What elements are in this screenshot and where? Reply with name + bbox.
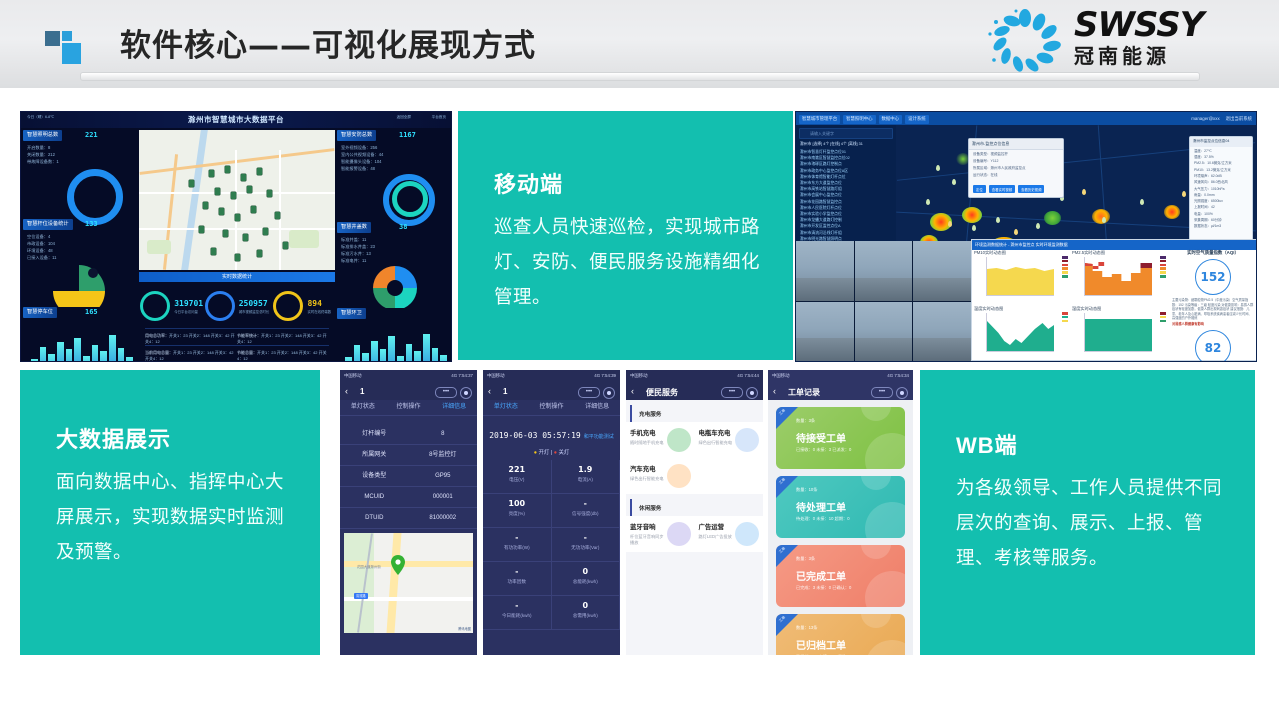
nav-item-platform[interactable]: 智慧城市管理平台 <box>799 115 840 124</box>
bar-chart-parking <box>23 321 135 362</box>
panel-label: 智慧停车位 <box>23 307 57 318</box>
detail-row: MCUID000001 <box>340 487 477 508</box>
close-circle-icon[interactable] <box>746 387 758 399</box>
dashboard-right-column: 智慧安防总数 1167 室外视频设备：256 室内公共视频设备：44 智能摄像头… <box>337 130 449 359</box>
decor-squares-icon <box>45 31 85 69</box>
bar-chart-sanitation <box>337 322 449 362</box>
dashboard-weather: 今日（晴）6-8℃ <box>27 115 54 120</box>
popup-live-video-button[interactable]: 查看实时视频 <box>989 185 1015 193</box>
more-icon[interactable]: ••• <box>871 387 893 398</box>
service-name: 手机充电 <box>630 428 664 437</box>
slide-header: 软件核心——可视化展现方式 <box>0 0 1279 88</box>
phone-title: 工单记录 <box>788 387 820 398</box>
refresh-link[interactable]: 和平功能测试 <box>584 434 614 440</box>
dashboard-center-column: 实时数据统计 319701 今日平台访问量 250957 城市视频监控总时长 8… <box>139 130 335 359</box>
onoff-indicator: ● 开灯 | ● 关灯 <box>483 448 620 456</box>
panel-header: 智慧安防总数 1167 <box>337 130 449 141</box>
card-subtitle: 数量：10条 <box>796 487 817 493</box>
back-icon[interactable]: ‹ <box>345 386 348 396</box>
metric-cell: 221电压(V) <box>483 460 552 494</box>
metric-label: 总需用(kwh) <box>552 613 620 619</box>
dashboard-topbar: 滁州市智慧城市大数据平台 今日（晴）6-8℃ 返回全屏 平台首页 <box>21 112 451 128</box>
popup-row: 运行状态：在线 <box>969 171 1063 178</box>
metric-value: - <box>483 567 551 576</box>
workorder-card[interactable]: 工单数量：3条已完成工单已完成：3 未接：0 已确认：0 <box>776 545 905 607</box>
tab-lamp-status[interactable]: 单灯状态 <box>340 400 386 415</box>
detail-value: 8号监控灯 <box>409 445 478 465</box>
more-icon[interactable]: ••• <box>435 387 457 398</box>
card-corner-ribbon <box>776 407 798 429</box>
phone-statusbar: 中国移动 4G 7:54:39 <box>483 370 620 383</box>
panel-label: 智慧杆位设备统计 <box>23 219 73 230</box>
detail-value: GP95 <box>409 466 478 486</box>
card-title: 已归档工单 <box>796 637 846 652</box>
map-location-pin-icon <box>391 555 405 575</box>
info-row: 数据状态：μl/1m3 <box>1190 222 1252 228</box>
info-panel-title: 滁州市监控点位信息04 <box>1190 137 1252 147</box>
tab-details[interactable]: 详细信息 <box>574 400 620 415</box>
card-title: 已完成工单 <box>796 568 846 583</box>
kpi-item: 894 实时在线终端数 <box>270 286 335 326</box>
phone-location-map[interactable]: 花园大道滁州街 清流路 腾讯地图 <box>344 533 473 633</box>
metric-value: 221 <box>483 465 551 474</box>
dashboard-fullscreen-button[interactable]: 返回全屏 <box>397 115 411 120</box>
card-subtitle: 数量：3条 <box>796 418 815 424</box>
bigdata-dashboard-screenshot: 滁州市智慧城市大数据平台 今日（晴）6-8℃ 返回全屏 平台首页 智慧照明总数 … <box>20 111 452 362</box>
metric-value: 1.9 <box>552 465 620 474</box>
tab-control[interactable]: 控制操作 <box>386 400 432 415</box>
workorder-card-list: 工单数量：3条待接受工单已接收：0 未接：3 已派发：0工单数量：10条待处理工… <box>768 407 913 656</box>
kpi-ring-icon <box>140 291 170 321</box>
panel-value: 221 <box>85 130 98 141</box>
panel-header: 智慧停车位 165 <box>23 307 135 318</box>
service-desc: 绿色出行智能充电 <box>699 440 733 446</box>
close-circle-icon[interactable] <box>603 387 615 399</box>
kpi-value: 250957 <box>239 299 270 309</box>
popup-title: 滁州市-监控点位信息 <box>969 139 1063 150</box>
tab-details[interactable]: 详细信息 <box>431 400 477 415</box>
detail-key: 所属网关 <box>340 445 409 465</box>
service-row: 蓝牙音响杆位蓝牙音响同步播放广告运营路灯LED广告投放 <box>626 516 763 552</box>
service-row: 汽车充电绿色出行智能充电 <box>626 458 763 494</box>
panel-value: 38 <box>399 222 407 233</box>
back-icon[interactable]: ‹ <box>631 386 634 396</box>
phone-statusbar: 中国移动 4G 7:54:34 <box>768 370 913 383</box>
kpi-value: 319701 <box>174 299 203 309</box>
workorder-card[interactable]: 工单数量：13条已归档工单已归档：13 未接：13 超期：0 <box>776 614 905 656</box>
service-desc: 随时随地手机充电 <box>630 440 664 446</box>
realtime-stats-bar: 实时数据统计 <box>139 272 335 282</box>
search-placeholder: 请输入关键字 <box>810 131 834 137</box>
metric-label: 今日能耗(kwh) <box>483 613 551 619</box>
popup-row: 所属区域：滁州市人民政府监控点 <box>969 164 1063 171</box>
card-corner-ribbon <box>776 614 798 636</box>
panel-header: 智慧照明总数 221 <box>23 130 135 141</box>
close-circle-icon[interactable] <box>896 387 908 399</box>
metric-label: 有功功率(W) <box>483 545 551 551</box>
gis-platform-screenshot: 智慧城市管理平台 智慧照明中心 数据中心 设计系统 manager@xxx 退出… <box>795 111 1257 362</box>
phone-title: 1 <box>360 387 364 396</box>
clock-label: 4G 7:54:37 <box>451 373 473 383</box>
service-name: 广告运营 <box>699 522 732 531</box>
metric-value: 0 <box>552 567 620 576</box>
donut-chart-security <box>337 172 449 222</box>
kpi-item: 319701 今日平台访问量 <box>139 286 204 326</box>
panel-detail-lines: 标准井盖：11 标准排水井盖：23 标准污水井：13 标准电井：11 <box>341 236 449 264</box>
bigdata-block-body: 面向数据中心、指挥中心大屏展示，实现数据实时监测及预警。 <box>56 464 296 569</box>
card-title: 待接受工单 <box>796 430 846 445</box>
phone-navbar: ‹ 1 ••• <box>340 383 477 400</box>
bigdata-block-title: 大数据展示 <box>56 422 296 454</box>
aqi-main-value: 152 <box>1195 259 1231 295</box>
timestamp-value: 2019-06-03 05:57:19 <box>489 431 581 440</box>
service-item <box>695 458 764 494</box>
lamp-on-label: 开灯 | <box>539 450 553 456</box>
phone-service-screenshot: 中国移动 4G 7:54:44 ‹ 便民服务 ••• 充电服务手机充电随时随地手… <box>626 370 763 655</box>
footer-row: 当前用电总量：开关1：23 开关2：148 开关3：42 开关4：12 节能总量… <box>145 345 329 361</box>
metric-label: 无功功率(Var) <box>552 545 620 551</box>
card-meta: 已接收：0 未接：3 已派发：0 <box>796 447 851 453</box>
web-text-block: WB端 为各级领导、工作人员提供不同层次的查询、展示、上报、管理、考核等服务。 <box>920 370 1255 655</box>
service-icon <box>667 428 691 452</box>
metric-cell: -今日能耗(kwh) <box>483 596 552 630</box>
phone-lamp-realtime-screenshot: 中国移动 4G 7:54:39 ‹ 1 ••• 单灯状态 控制操作 详细信息 2… <box>483 370 620 655</box>
environment-info-panel: 滁州市监控点位信息04 温度：27℃湿度：37.5%PM2.5：10.6微克/立… <box>1189 136 1253 253</box>
nav-item-data[interactable]: 数据中心 <box>879 115 903 124</box>
metric-cell: 1.9电流(A) <box>552 460 621 494</box>
service-icon <box>667 522 691 546</box>
pie-chart-poles <box>23 261 135 307</box>
kpi-ring-icon <box>205 291 235 321</box>
card-meta: 待处理：0 未接：10 超期：0 <box>796 516 850 522</box>
metric-value: - <box>483 533 551 542</box>
metric-cell: -有功功率(W) <box>483 528 552 562</box>
detail-value: 81000002 <box>409 508 478 528</box>
detail-key: MCUID <box>340 487 409 507</box>
donut-chart-lighting <box>23 165 135 219</box>
detail-row: 设备类型GP95 <box>340 466 477 487</box>
metric-value: - <box>552 499 620 508</box>
service-desc: 绿色出行智能充电 <box>630 476 664 482</box>
card-corner-ribbon <box>776 476 798 498</box>
panel-label: 智慧环卫 <box>337 308 366 319</box>
aqi-description: 主要污染物：细颗粒物PM2.5（中度污染）空气质量指数：152 污染等级：三级 … <box>1172 298 1254 321</box>
web-block-title: WB端 <box>956 428 1231 460</box>
popup-row: 设备类型：视频监控杆 <box>969 150 1063 157</box>
card-meta: 已归档：13 未接：13 超期：0 <box>796 654 852 656</box>
carrier-label: 中国移动 <box>344 373 362 383</box>
service-row: 手机充电随时随地手机充电电瓶车充电绿色出行智能充电 <box>626 422 763 458</box>
workorder-card[interactable]: 工单数量：3条待接受工单已接收：0 未接：3 已派发：0 <box>776 407 905 469</box>
service-item[interactable]: 汽车充电绿色出行智能充电 <box>626 458 695 494</box>
phone-navbar: ‹ 1 ••• <box>483 383 620 400</box>
pie-chart-manholes <box>337 264 449 308</box>
camera-tile[interactable] <box>855 241 913 301</box>
footer-key: 用电总功率： <box>145 333 169 338</box>
detail-value: 8 <box>409 424 478 444</box>
tree-search-input[interactable]: 请输入关键字 <box>799 128 893 139</box>
aqi-warning: 对易感人群健康有影响 <box>1172 322 1254 327</box>
kpi-label: 城市视频监控总时长 <box>239 309 270 314</box>
popup-history-video-button[interactable]: 查看历史视频 <box>1018 185 1044 193</box>
service-name: 蓝牙音响 <box>630 522 667 531</box>
aqi-charts-grid: PM10实时动态图 PM2.5实时动态图 <box>974 250 1169 358</box>
metric-grid: 221电压(V)1.9电流(A)100亮度(%)-信号强度(db)-有功功率(W… <box>483 460 620 630</box>
map-street-label: 花园大道滁州街 <box>357 564 381 569</box>
service-icon <box>667 464 691 488</box>
panel-detail-lines: 开启数量：8 关闭数量：212 带故障设备数：1 <box>27 144 135 165</box>
metric-label: 电压(V) <box>483 477 551 483</box>
metric-cell: -信号强度(db) <box>552 494 621 528</box>
bigdata-text-block: 大数据展示 面向数据中心、指挥中心大屏展示，实现数据实时监测及预警。 <box>20 370 320 655</box>
phone-navbar: ‹ 便民服务 ••• <box>626 383 763 400</box>
close-circle-icon[interactable] <box>460 387 472 399</box>
metric-label: 功率因数 <box>483 579 551 585</box>
panel-detail-lines: 空位设备：4 市政设备：104 环境设备：48 已接入设备：11 <box>27 233 135 261</box>
kpi-row: 319701 今日平台访问量 250957 城市视频监控总时长 894 实时在线… <box>139 286 335 326</box>
service-desc: 路灯LED广告投放 <box>699 534 732 540</box>
panel-label: 智慧安防总数 <box>337 130 376 141</box>
company-logo: SWSSY 冠南能源 <box>982 6 1227 76</box>
service-section-title: 休闲服务 <box>630 499 763 516</box>
service-item[interactable]: 蓝牙音响杆位蓝牙音响同步播放 <box>626 516 695 552</box>
logo-text-en: SWSSY <box>1074 8 1203 42</box>
workorder-card[interactable]: 工单数量：10条待处理工单待处理：0 未接：10 超期：0 <box>776 476 905 538</box>
metric-label: 电流(A) <box>552 477 620 483</box>
clock-label: 4G 7:54:39 <box>594 373 616 383</box>
service-item[interactable]: 手机充电随时随地手机充电 <box>626 422 695 458</box>
camera-tile[interactable] <box>913 302 971 362</box>
dashboard-title: 滁州市智慧城市大数据平台 <box>21 114 451 125</box>
phone-workorder-screenshot: 中国移动 4G 7:54:34 ‹ 工单记录 ••• 工单数量：3条待接受工单已… <box>768 370 913 655</box>
footer-row: 用电总功率：开关1：23 开关2：148 开关3：42 开关4：12 节能率统计… <box>145 328 329 344</box>
gis-navbar: 智慧城市管理平台 智慧照明中心 数据中心 设计系统 manager@xxx 退出… <box>796 112 1256 125</box>
detail-key: 设备类型 <box>340 466 409 486</box>
tab-lamp-status[interactable]: 单灯状态 <box>483 400 529 415</box>
map-attribution: 腾讯地图 <box>458 626 471 631</box>
footer-key: 节能总量： <box>237 350 257 355</box>
metric-label: 总能耗(kwh) <box>552 579 620 585</box>
aqi-index-title: 实时空气质量指数（AQI） <box>1172 250 1254 256</box>
carrier-label: 中国移动 <box>772 373 790 383</box>
city-map[interactable] <box>139 130 335 270</box>
card-subtitle: 数量：13条 <box>796 625 817 631</box>
detail-value: 000001 <box>409 487 478 507</box>
logout-button[interactable]: 退出当前系统 <box>1226 116 1252 122</box>
map-point-popup[interactable]: 滁州市-监控点位信息 设备类型：视频监控杆 设备编号：Y112 所属区域：滁州市… <box>968 138 1064 198</box>
camera-tile[interactable] <box>796 241 854 301</box>
camera-tile[interactable] <box>913 241 971 301</box>
user-menu[interactable]: manager@xxx <box>1191 116 1219 122</box>
metric-value: 100 <box>483 499 551 508</box>
service-item[interactable]: 广告运营路灯LED广告投放 <box>695 516 764 552</box>
card-corner-ribbon <box>776 545 798 567</box>
chart-temperature: 温度实时动态图 <box>974 306 1068 358</box>
phone-tabs[interactable]: 单灯状态 控制操作 详细信息 <box>340 400 477 416</box>
service-sections: 充电服务手机充电随时随地手机充电电瓶车充电绿色出行智能充电汽车充电绿色出行智能充… <box>626 405 763 552</box>
tree-root-label: 滁州市 [选择] 4个 [在线] 4个 [离线] 31 <box>800 142 896 147</box>
metric-label: 亮度(%) <box>483 511 551 517</box>
detail-row: DTUID81000002 <box>340 508 477 529</box>
camera-tile[interactable] <box>855 302 913 362</box>
phone-tabs[interactable]: 单灯状态 控制操作 详细信息 <box>483 400 620 416</box>
mobile-text-block: 移动端 巡查人员快速巡检，实现城市路灯、安防、便民服务设施精细化管理。 <box>458 111 793 360</box>
water-drop-emblem-icon <box>982 8 1068 74</box>
dashboard-home-button[interactable]: 平台首页 <box>432 115 446 120</box>
card-meta: 已完成：3 未接：0 已确认：0 <box>796 585 851 591</box>
tab-control[interactable]: 控制操作 <box>529 400 575 415</box>
aqi-index-panel: 实时空气质量指数（AQI） 152 主要污染物：细颗粒物PM2.5（中度污染）空… <box>1172 250 1254 358</box>
page-title: 软件核心——可视化展现方式 <box>120 20 536 65</box>
realtime-timestamp-row: 2019-06-03 05:57:19和平功能测试 ● 开灯 | ● 关灯 <box>483 416 620 460</box>
metric-label: 信号强度(db) <box>552 511 620 517</box>
panel-header: 智慧杆位设备统计 133 <box>23 219 135 230</box>
map-road-badge: 清流路 <box>354 593 368 599</box>
phone-lamp-detail-screenshot: 中国移动 4G 7:54:37 ‹ 1 ••• 单灯状态 控制操作 详细信息 灯… <box>340 370 477 655</box>
panel-label: 智慧照明总数 <box>23 130 62 141</box>
detail-row: 所属网关8号监控灯 <box>340 445 477 466</box>
aqi-panel-title: 环境监测数据统计 - 滁州市监控点 实时环境监测数据 <box>972 240 1257 250</box>
kpi-value: 894 <box>307 299 331 309</box>
service-icon <box>735 428 759 452</box>
phone-navbar: ‹ 工单记录 ••• <box>768 383 913 400</box>
phone-title: 便民服务 <box>646 387 678 398</box>
metric-cell: -功率因数 <box>483 562 552 596</box>
phone-statusbar: 中国移动 4G 7:54:44 <box>626 370 763 383</box>
chart-humidity: 湿度实时动态图 <box>1072 306 1166 358</box>
detail-row: 灯杆编号8 <box>340 424 477 445</box>
dashboard-left-column: 智慧照明总数 221 开启数量：8 关闭数量：212 带故障设备数：1 智慧杆位… <box>23 130 135 359</box>
more-icon[interactable]: ••• <box>578 387 600 398</box>
carrier-label: 中国移动 <box>630 373 648 383</box>
web-block-body: 为各级领导、工作人员提供不同层次的查询、展示、上报、管理、考核等服务。 <box>956 470 1231 575</box>
panel-detail-lines: 室外视频设备：256 室内公共视频设备：44 智能摄像头设备：104 智能报警设… <box>341 144 449 172</box>
metric-value: 0 <box>552 601 620 610</box>
metric-cell: 0总需用(kwh) <box>552 596 621 630</box>
mobile-block-body: 巡查人员快速巡检，实现城市路灯、安防、便民服务设施精细化管理。 <box>494 209 769 314</box>
mobile-block-title: 移动端 <box>494 167 769 199</box>
metric-value: - <box>483 601 551 610</box>
camera-tile[interactable] <box>796 302 854 362</box>
slide: 软件核心——可视化展现方式 <box>0 0 1279 720</box>
footer-key: 当前用电总量： <box>145 350 173 355</box>
panel-header: 智慧环卫 <box>337 308 449 319</box>
panel-value: 133 <box>85 219 98 230</box>
footer-key: 节能率统计： <box>237 333 261 338</box>
camera-grid <box>796 241 971 361</box>
panel-value: 1167 <box>399 130 416 141</box>
chart-pm10: PM10实时动态图 <box>974 250 1068 302</box>
service-item[interactable]: 电瓶车充电绿色出行智能充电 <box>695 422 764 458</box>
back-icon[interactable]: ‹ <box>773 386 776 396</box>
kpi-ring-icon <box>273 291 303 321</box>
more-icon[interactable]: ••• <box>721 387 743 398</box>
phone-title: 1 <box>503 387 507 396</box>
aqi-secondary-value: 82 <box>1195 330 1231 362</box>
panel-label: 智慧井盖数 <box>337 222 371 233</box>
metric-cell: 0总能耗(kwh) <box>552 562 621 596</box>
back-icon[interactable]: ‹ <box>488 386 491 396</box>
popup-locate-button[interactable]: 定位 <box>973 185 986 193</box>
service-icon <box>735 522 759 546</box>
card-title: 待处理工单 <box>796 499 846 514</box>
nav-item-lighting[interactable]: 智慧照明中心 <box>843 115 875 124</box>
kpi-label: 今日平台访问量 <box>174 309 203 314</box>
detail-key: DTUID <box>340 508 409 528</box>
carrier-label: 中国移动 <box>487 373 505 383</box>
nav-item-design[interactable]: 设计系统 <box>905 115 929 124</box>
phone-statusbar: 中国移动 4G 7:54:37 <box>340 370 477 383</box>
service-desc: 杆位蓝牙音响同步播放 <box>630 534 667 546</box>
metric-cell: -无功功率(Var) <box>552 528 621 562</box>
panel-header: 智慧井盖数 38 <box>337 222 449 233</box>
clock-label: 4G 7:54:34 <box>887 373 909 383</box>
service-section-title: 充电服务 <box>630 405 763 422</box>
metric-value: - <box>552 533 620 542</box>
service-name: 电瓶车充电 <box>699 428 733 437</box>
aqi-panel: 环境监测数据统计 - 滁州市监控点 实时环境监测数据 PM10实时动态图 PM2… <box>971 239 1257 361</box>
service-name: 汽车充电 <box>630 464 664 473</box>
panel-value: 165 <box>85 307 98 318</box>
popup-row: 设备编号：Y112 <box>969 157 1063 164</box>
card-subtitle: 数量：3条 <box>796 556 815 562</box>
metric-cell: 100亮度(%) <box>483 494 552 528</box>
logo-text-cn: 冠南能源 <box>1074 46 1203 68</box>
kpi-item: 250957 城市视频监控总时长 <box>204 286 269 326</box>
chart-pm25: PM2.5实时动态图 <box>1072 250 1166 302</box>
lamp-off-label: 关灯 <box>558 450 569 456</box>
kpi-label: 实时在线终端数 <box>307 309 331 314</box>
clock-label: 4G 7:54:44 <box>737 373 759 383</box>
detail-key: 灯杆编号 <box>340 424 409 444</box>
